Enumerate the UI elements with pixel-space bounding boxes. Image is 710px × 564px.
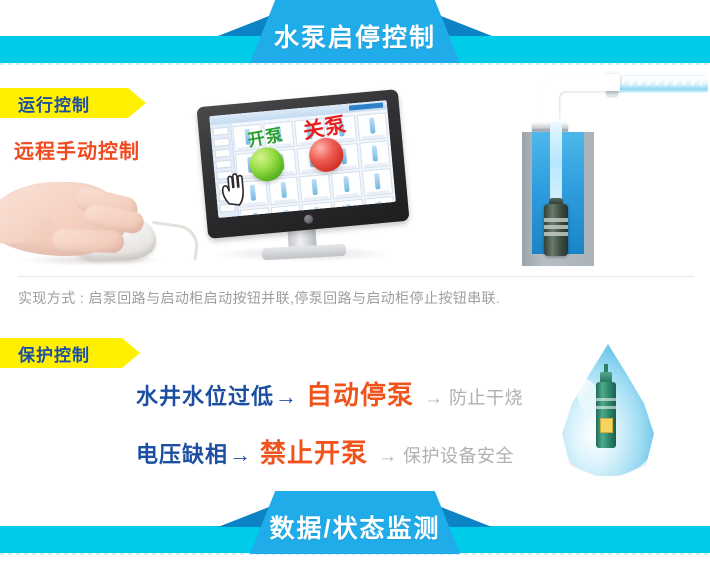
tag-run-control-label: 运行控制 (18, 91, 90, 116)
desktop-monitor-illustration: 开泵 关泵 (196, 98, 412, 268)
scada-sidebar-item (213, 138, 230, 147)
tile-line (362, 134, 385, 139)
footer-title: 数据/状态监测 (218, 491, 492, 554)
hand-cursor-icon (219, 171, 252, 208)
discharge-pipe-horizontal (612, 75, 708, 93)
page-title-ribbon: 水泵启停控制 (218, 0, 492, 63)
hand-finger-ring (52, 229, 125, 253)
scada-device-tile (299, 174, 330, 203)
drop-pump-ring (596, 398, 616, 401)
protection-rule-row: 水井水位过低 → 自动停泵 → 防止干烧 (136, 375, 523, 412)
protection-rule-condition: 电压缺相 (136, 437, 228, 469)
tag-protection-control: 保护控制 (0, 338, 140, 368)
hand-on-mouse-illustration (0, 172, 182, 277)
gauge-icon (281, 182, 287, 198)
page-title: 水泵启停控制 (218, 0, 492, 63)
tag-run-control: 运行控制 (0, 88, 146, 118)
drop-pump-label (600, 418, 613, 433)
poster-canvas: 水泵启停控制 运行控制 远程手动控制 (0, 0, 710, 564)
water-drop-illustration (548, 344, 668, 486)
drop-pump-ring (596, 406, 616, 409)
monitor-bezel: 开泵 关泵 (196, 89, 409, 239)
scada-sidebar-item (215, 159, 232, 168)
footer-title-ribbon: 数据/状态监测 (218, 491, 492, 554)
pump-ring (544, 218, 568, 222)
scada-sidebar-item (212, 127, 229, 136)
scada-device-tile (331, 171, 362, 200)
scada-device-tile (268, 177, 299, 206)
scada-sidebar-item (214, 149, 231, 158)
scada-device-tile (359, 140, 390, 169)
pump-ring (544, 225, 568, 229)
tile-line (336, 193, 359, 198)
gauge-icon (343, 176, 349, 192)
section-divider (18, 276, 694, 277)
tile-line (273, 199, 296, 204)
pump-ring (544, 232, 568, 236)
arrow-right-icon-secondary: → (378, 446, 397, 468)
protection-rule-action: 禁止开泵 (260, 433, 368, 470)
submersible-pump (544, 204, 568, 256)
tag-protection-control-label: 保护控制 (18, 341, 90, 366)
scada-device-tile (362, 168, 393, 197)
monitor-screen: 开泵 关泵 (209, 100, 396, 218)
subheading-remote-manual-control: 远程手动控制 (14, 135, 140, 164)
tile-line (367, 190, 390, 195)
arrow-right-icon: → (275, 384, 297, 410)
gauge-icon (374, 173, 380, 189)
arrow-right-icon-secondary: → (424, 388, 443, 410)
gauge-icon (312, 179, 318, 195)
protection-rule-action: 自动停泵 (306, 375, 414, 412)
implementation-note: 实现方式 : 启泵回路与启动柜启动按钮并联,停泵回路与启动柜停止按钮串联. (18, 288, 500, 308)
protection-rule-effect: 保护设备安全 (403, 442, 514, 468)
protection-rule-effect: 防止干烧 (449, 384, 523, 410)
protection-rule-condition: 水井水位过低 (136, 379, 274, 411)
scada-application-view: 开泵 关泵 (209, 100, 396, 218)
power-indicator-icon (303, 214, 313, 224)
gauge-icon (369, 117, 375, 133)
scada-device-tile (357, 112, 388, 141)
protection-rule-row: 电压缺相 → 禁止开泵 → 保护设备安全 (136, 433, 514, 470)
well-pump-illustration (494, 62, 710, 278)
tile-line (364, 162, 387, 167)
gauge-icon (372, 145, 378, 161)
arrow-right-icon: → (229, 442, 251, 468)
drop-pump-body (596, 382, 616, 448)
tile-line (304, 196, 327, 201)
